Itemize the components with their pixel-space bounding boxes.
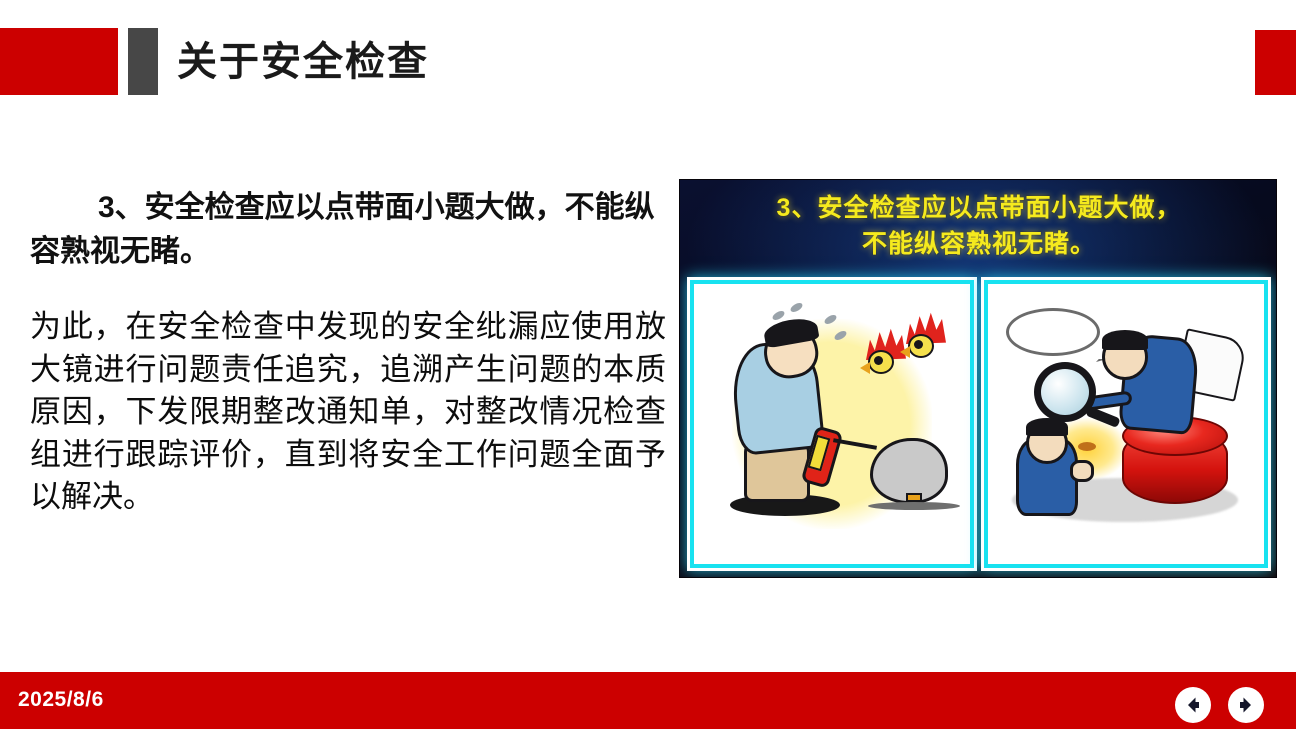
page-title: 关于安全检查 <box>177 34 429 90</box>
right-cartoon-panel <box>984 280 1268 568</box>
header-gray-block <box>128 28 158 95</box>
footer-date: 2025/8/6 <box>18 688 104 712</box>
left-panel-canvas <box>700 290 964 558</box>
left-cartoon-panel <box>690 280 974 568</box>
prev-slide-button[interactable] <box>1175 687 1211 723</box>
magnifying-glass-icon <box>1034 362 1096 422</box>
illustration-figure: 3、安全检查应以点带面小题大做， 不能纵容熟视无睹。 <box>679 179 1277 578</box>
inspector-hair <box>1102 330 1148 350</box>
worker-hand <box>1070 460 1094 482</box>
figure-caption-line-2: 不能纵容熟视无睹。 <box>680 226 1277 262</box>
content-text-column: 3、安全检查应以点带面小题大做，不能纵容熟视无睹。 为此，在安全检查中发现的安全… <box>30 186 666 519</box>
next-slide-button[interactable] <box>1228 687 1264 723</box>
figure-caption: 3、安全检查应以点带面小题大做， 不能纵容熟视无睹。 <box>680 190 1277 262</box>
arrow-left-icon <box>1182 694 1204 716</box>
lead-heading: 3、安全检查应以点带面小题大做，不能纵容熟视无睹。 <box>30 186 666 274</box>
arrow-right-icon <box>1235 694 1257 716</box>
right-panel-canvas <box>994 290 1258 558</box>
worker-hair <box>1026 418 1068 436</box>
header-red-block-left <box>0 28 118 95</box>
speech-bubble <box>1006 308 1100 356</box>
fire-spark-icon <box>906 493 922 502</box>
inspected-detail-icon <box>1078 442 1096 451</box>
body-paragraph: 为此，在安全检查中发现的安全纰漏应使用放大镜进行问题责任追究，追溯产生问题的本质… <box>30 306 666 519</box>
ground-shadow <box>868 502 960 510</box>
sweat-drop-icon <box>789 301 804 314</box>
slide-root: 关于安全检查 3、安全检查应以点带面小题大做，不能纵容熟视无睹。 为此，在安全检… <box>0 0 1296 729</box>
cartoon-panels <box>690 280 1268 568</box>
slide-header: 关于安全检查 <box>0 0 1296 120</box>
figure-caption-line-1: 3、安全检查应以点带面小题大做， <box>777 194 1182 222</box>
slide-footer: 2025/8/6 <box>0 672 1296 729</box>
header-red-block-right <box>1255 30 1296 95</box>
